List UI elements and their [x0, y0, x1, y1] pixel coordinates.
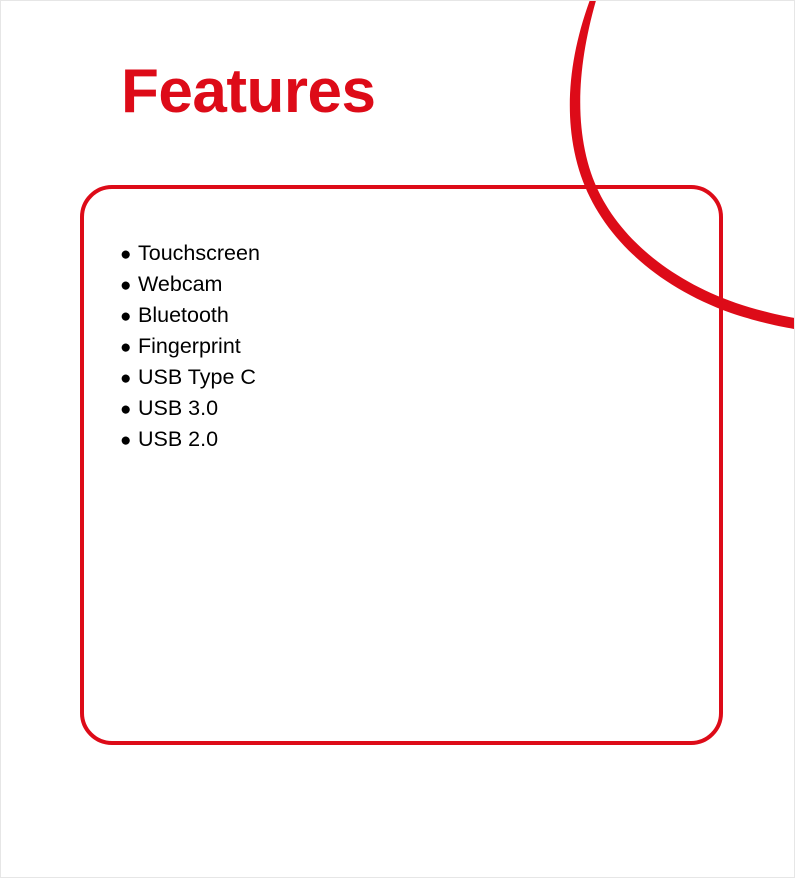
list-item-label: USB 2.0 — [138, 427, 218, 452]
list-item: ● USB 2.0 — [120, 427, 260, 458]
bullet-icon: ● — [120, 307, 138, 326]
list-item-label: Webcam — [138, 272, 222, 297]
features-slide: Features ● Touchscreen ● Webcam ● Blueto… — [0, 0, 795, 878]
bullet-icon: ● — [120, 276, 138, 295]
list-item-label: USB 3.0 — [138, 396, 218, 421]
list-item: ● Touchscreen — [120, 241, 260, 272]
features-card: ● Touchscreen ● Webcam ● Bluetooth ● Fin… — [80, 185, 723, 745]
bullet-icon: ● — [120, 338, 138, 357]
bullet-icon: ● — [120, 400, 138, 419]
features-list: ● Touchscreen ● Webcam ● Bluetooth ● Fin… — [120, 241, 260, 458]
list-item: ● USB Type C — [120, 365, 260, 396]
list-item-label: USB Type C — [138, 365, 256, 390]
bullet-icon: ● — [120, 245, 138, 264]
list-item: ● Bluetooth — [120, 303, 260, 334]
list-item-label: Bluetooth — [138, 303, 229, 328]
list-item-label: Fingerprint — [138, 334, 241, 359]
list-item: ● Webcam — [120, 272, 260, 303]
list-item-label: Touchscreen — [138, 241, 260, 266]
list-item: ● Fingerprint — [120, 334, 260, 365]
page-title: Features — [121, 61, 375, 123]
bullet-icon: ● — [120, 431, 138, 450]
bullet-icon: ● — [120, 369, 138, 388]
list-item: ● USB 3.0 — [120, 396, 260, 427]
